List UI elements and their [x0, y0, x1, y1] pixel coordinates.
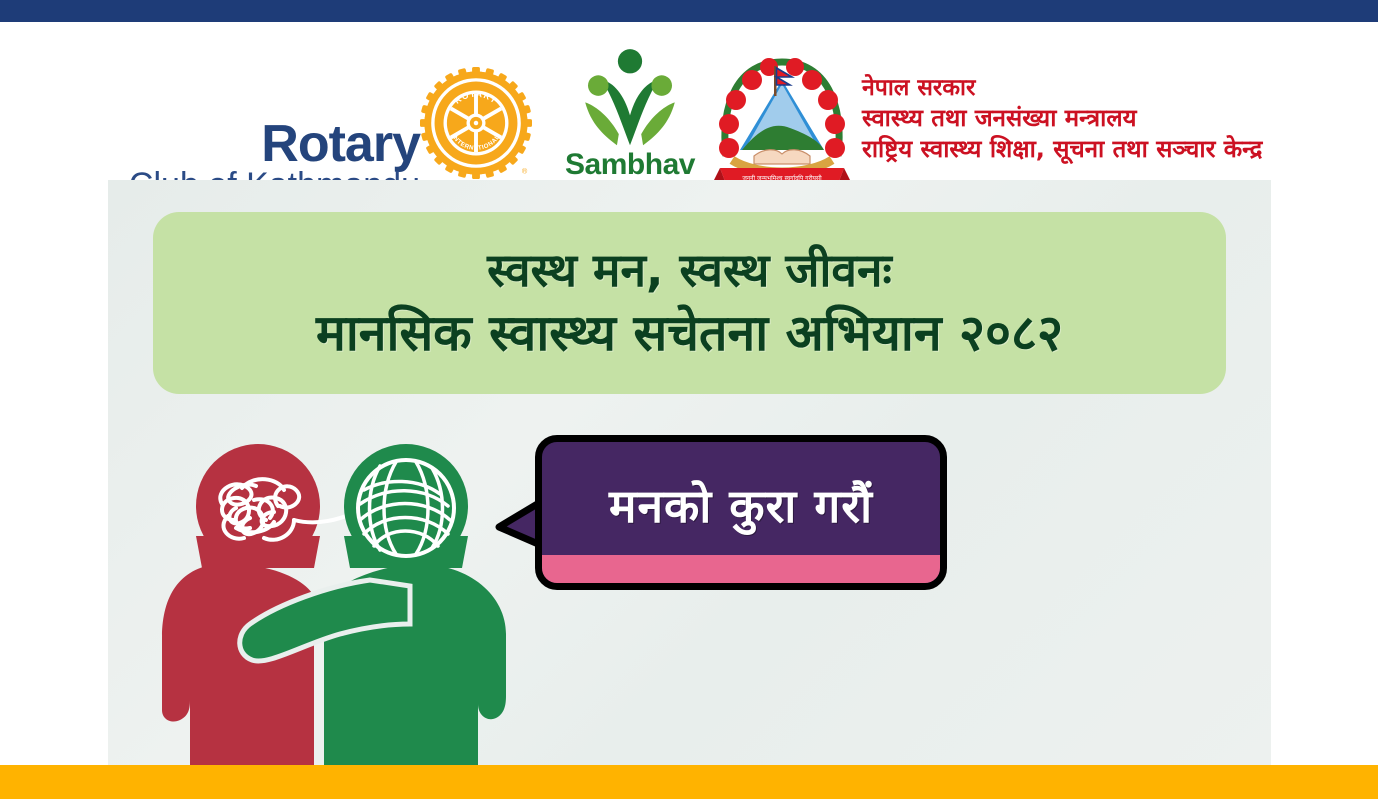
bottom-accent-bar [0, 765, 1378, 799]
campaign-title-line-1: स्वस्थ मन, स्वस्थ जीवनः [487, 244, 892, 297]
registered-mark: ® [522, 166, 528, 175]
rotary-wheel-icon: ROTARY INTERNATIONAL ® [420, 67, 532, 179]
sambhav-name: Sambhav [560, 148, 700, 182]
gov-line-3: राष्ट्रिय स्वास्थ्य शिक्षा, सूचना तथा सञ… [862, 134, 1262, 165]
gov-line-2: स्वास्थ्य तथा जनसंख्या मन्त्रालय [862, 103, 1262, 134]
slide-root: Rotary Club of Kathmandu [0, 0, 1378, 799]
speech-bubble-accent-strip [542, 555, 940, 583]
speech-bubble: मनको कुरा गरौं [535, 435, 947, 590]
nepal-coat-of-arms-icon: जननी जन्मभूमिश्च स्वर्गादपि गरीयसी [712, 52, 852, 198]
nepal-government-lockup: जननी जन्मभूमिश्च स्वर्गादपि गरीयसी नेपाल… [712, 48, 1292, 200]
rotary-wordmark: Rotary [261, 114, 420, 174]
rotary-logo-lockup: Rotary Club of Kathmandu [112, 62, 532, 187]
logo-header: Rotary Club of Kathmandu [0, 22, 1378, 180]
campaign-title-line-2: मानसिक स्वास्थ्य सचेतना अभियान २०८२ [316, 305, 1063, 363]
content-panel: स्वस्थ मन, स्वस्थ जीवनः मानसिक स्वास्थ्य… [108, 180, 1271, 765]
speech-bubble-text: मनको कुरा गरौं [542, 442, 940, 568]
gov-line-1: नेपाल सरकार [862, 74, 1262, 103]
speech-bubble-group: मनको कुरा गरौं [493, 435, 953, 600]
campaign-title-box: स्वस्थ मन, स्वस्थ जीवनः मानसिक स्वास्थ्य… [153, 212, 1226, 394]
nepal-government-text: नेपाल सरकार स्वास्थ्य तथा जनसंख्या मन्त्… [862, 74, 1262, 165]
sambhav-people-icon [574, 48, 686, 153]
top-accent-bar [0, 0, 1378, 22]
two-people-illustration [118, 428, 538, 765]
